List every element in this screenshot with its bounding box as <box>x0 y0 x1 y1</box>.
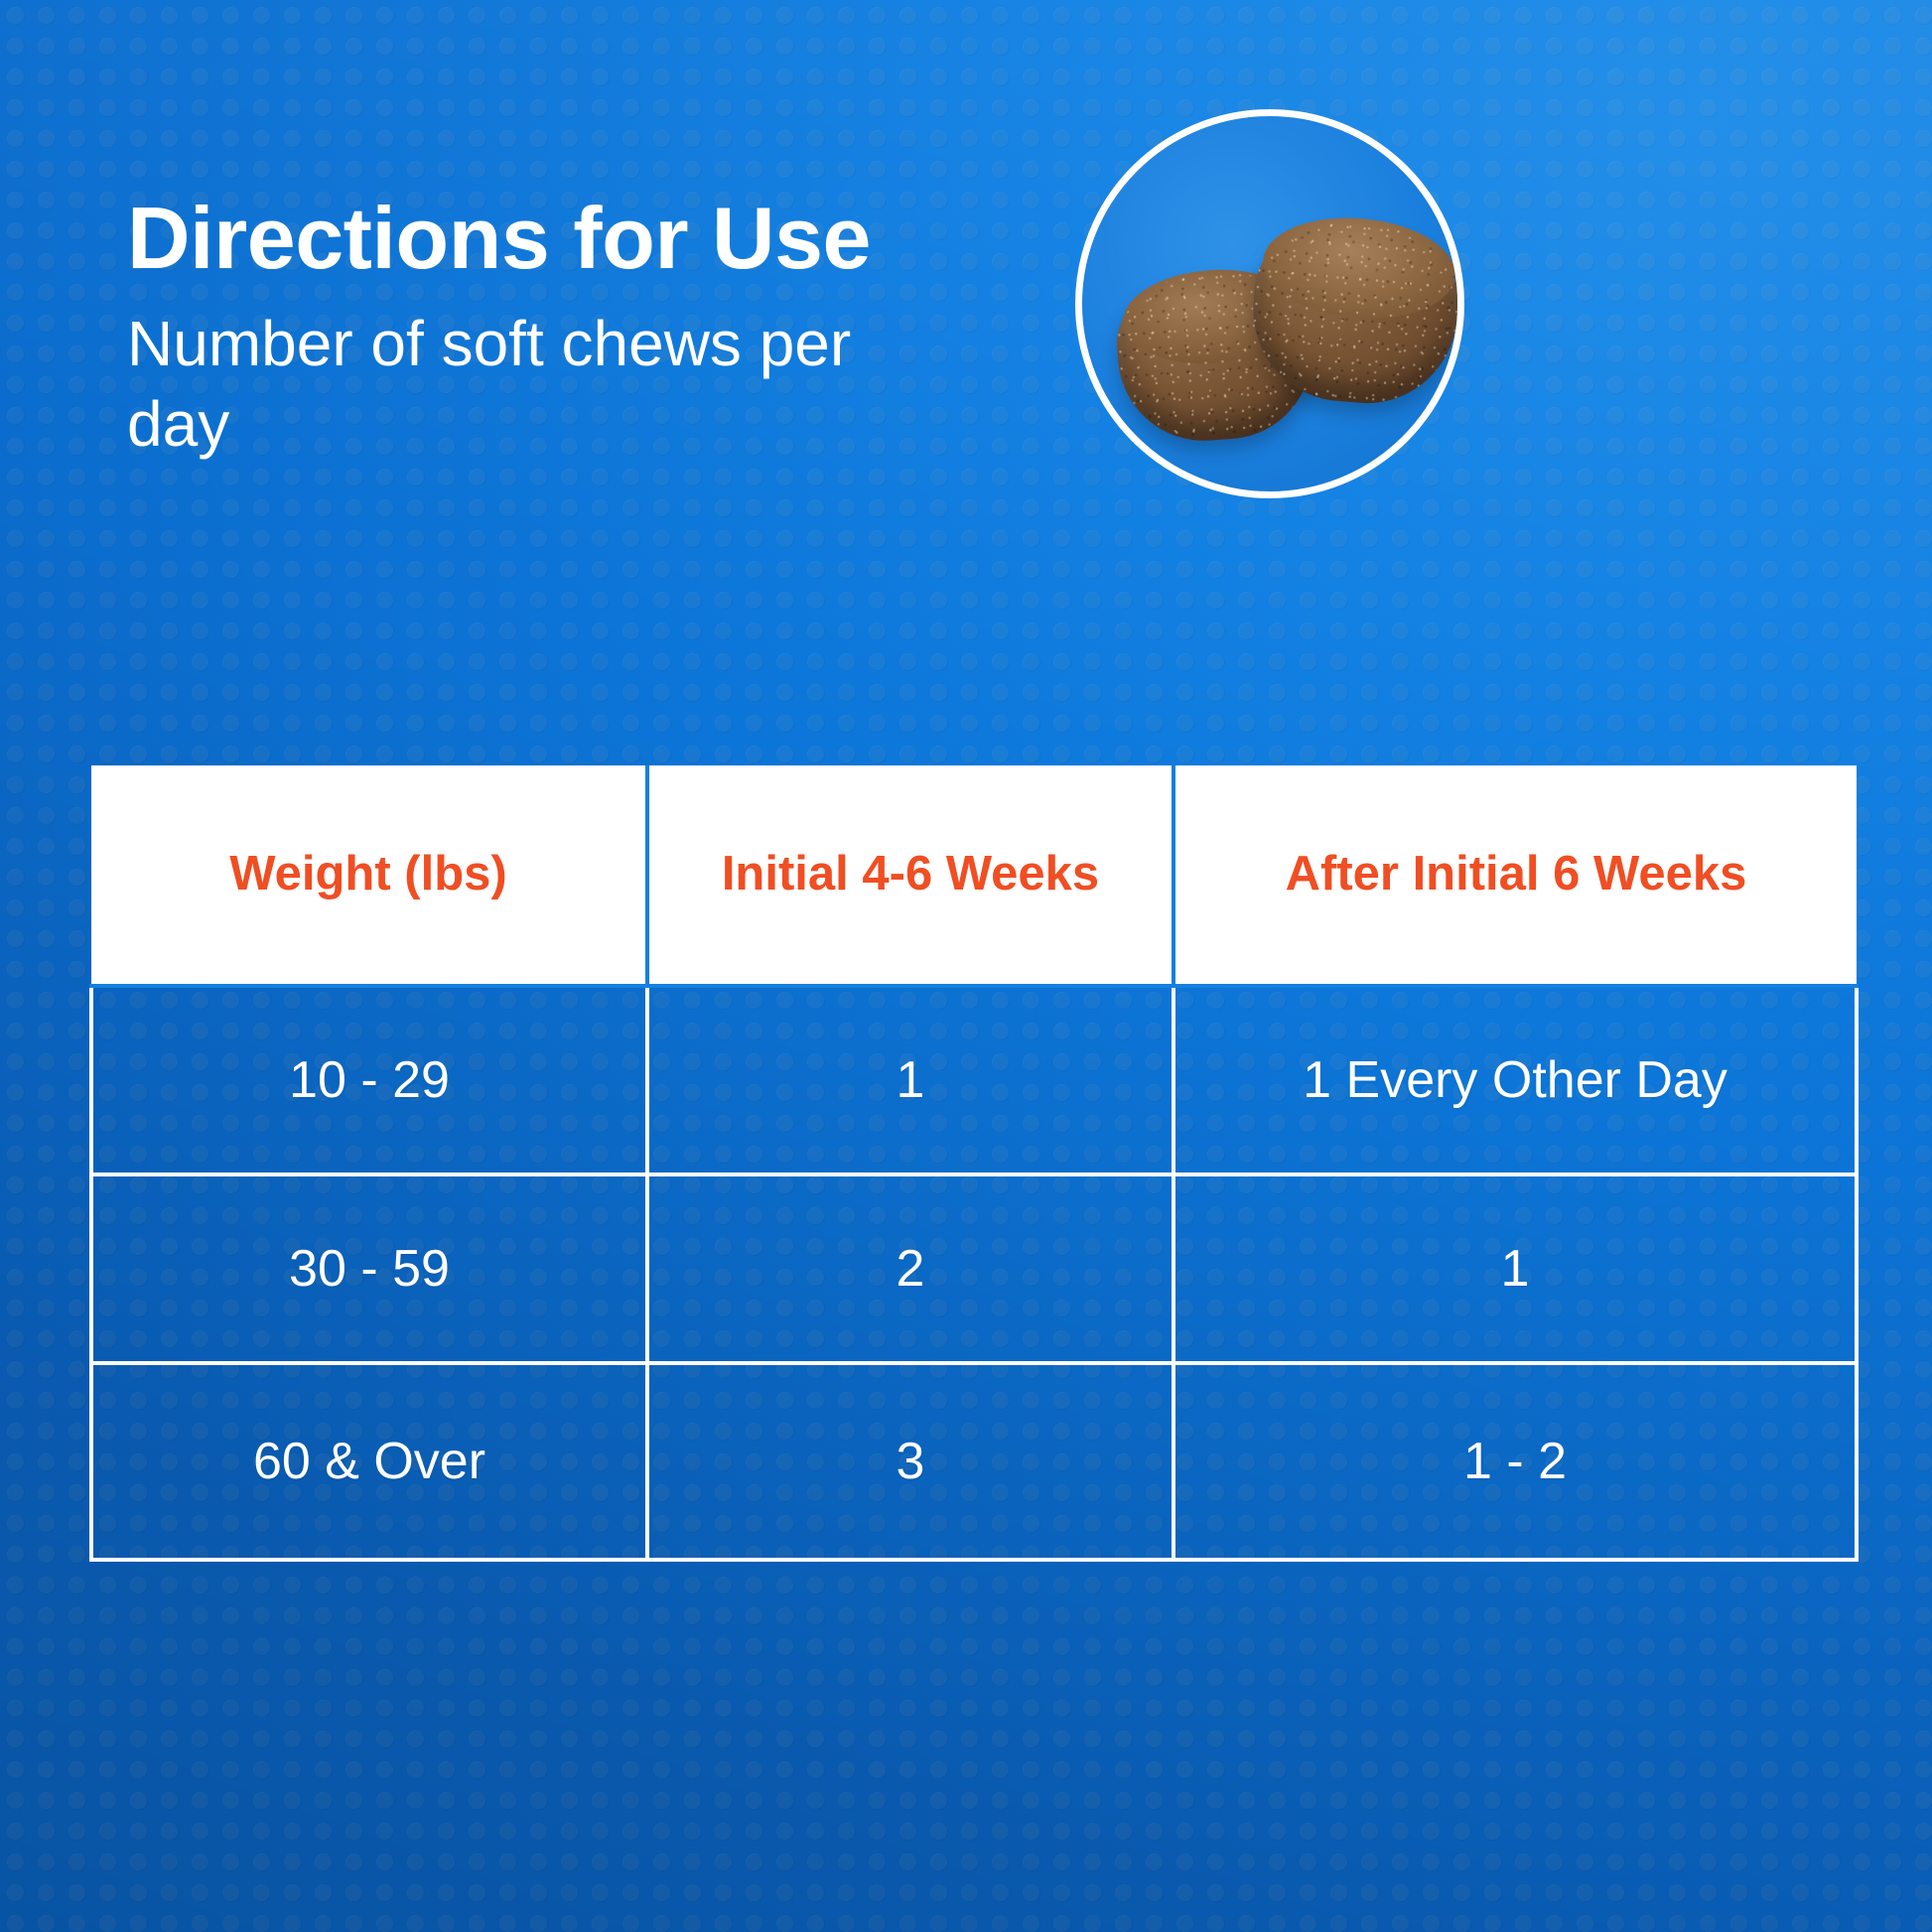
column-header-initial-weeks: Initial 4-6 Weeks <box>647 765 1173 986</box>
cell-after: 1 Every Other Day <box>1173 986 1857 1174</box>
cell-initial: 1 <box>647 986 1173 1174</box>
header-block: Directions for Use Number of soft chews … <box>127 195 1120 464</box>
cell-weight: 30 - 59 <box>91 1174 647 1363</box>
column-header-weight: Weight (lbs) <box>91 765 647 986</box>
cell-weight: 10 - 29 <box>91 986 647 1174</box>
product-image-badge <box>1075 109 1464 498</box>
dosage-table-head: Weight (lbs) Initial 4-6 Weeks After Ini… <box>91 765 1857 986</box>
cell-initial: 3 <box>647 1363 1173 1560</box>
page-subtitle: Number of soft chews per day <box>127 304 951 464</box>
table-row: 30 - 59 2 1 <box>91 1174 1857 1363</box>
cell-after: 1 - 2 <box>1173 1363 1857 1560</box>
column-header-after-weeks: After Initial 6 Weeks <box>1173 765 1857 986</box>
cell-weight: 60 & Over <box>91 1363 647 1560</box>
table-row: 10 - 29 1 1 Every Other Day <box>91 986 1857 1174</box>
cell-initial: 2 <box>647 1174 1173 1363</box>
dosage-table: Weight (lbs) Initial 4-6 Weeks After Ini… <box>89 765 1859 1562</box>
table-row: 60 & Over 3 1 - 2 <box>91 1363 1857 1560</box>
soft-chew-top-face <box>1259 210 1459 327</box>
table-header-row: Weight (lbs) Initial 4-6 Weeks After Ini… <box>91 765 1857 986</box>
cell-after: 1 <box>1173 1174 1857 1363</box>
dosage-table-body: 10 - 29 1 1 Every Other Day 30 - 59 2 1 … <box>91 986 1857 1560</box>
infographic-canvas: Directions for Use Number of soft chews … <box>0 0 1932 1932</box>
page-title: Directions for Use <box>127 195 1120 282</box>
